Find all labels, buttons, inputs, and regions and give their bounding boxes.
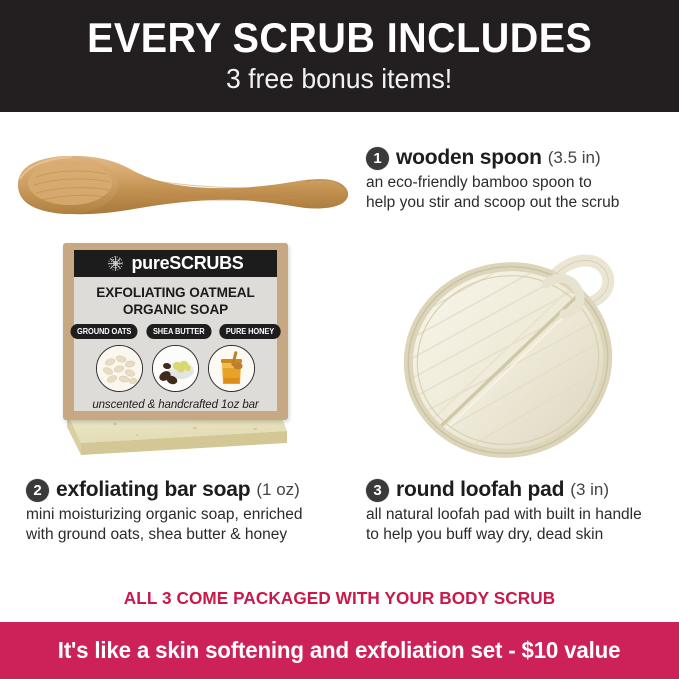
- item-2-desc-line-1: mini moisturizing organic soap, enriched: [26, 505, 336, 525]
- pure-honey-photo: [208, 345, 255, 392]
- soap-headline-line-1: EXFOLIATING OATMEAL: [78, 285, 273, 302]
- badge-ground-oats: GROUND OATS: [70, 324, 137, 339]
- header-subtitle: 3 free bonus items!: [226, 63, 452, 95]
- ground-oats-photo: [96, 345, 143, 392]
- soap-package-box: pureSCRUBS EXFOLIATING OATMEAL ORGANIC S…: [63, 243, 288, 420]
- item-2-number-badge: 2: [26, 479, 49, 502]
- item-2-quantity: (1 oz): [256, 480, 299, 500]
- header-banner: EVERY SCRUB INCLUDES 3 free bonus items!: [0, 0, 679, 112]
- soap-footer-text: unscented & handcrafted 1oz bar: [74, 392, 277, 411]
- loofah-pad-image: [396, 238, 636, 466]
- item-3-quantity: (3 in): [570, 480, 609, 500]
- value-banner-text: It's like a skin softening and exfoliati…: [58, 637, 621, 664]
- item-2-title: exfoliating bar soap: [56, 478, 250, 502]
- bar-soap-image: pureSCRUBS EXFOLIATING OATMEAL ORGANIC S…: [55, 243, 295, 458]
- packaging-note: ALL 3 COME PACKAGED WITH YOUR BODY SCRUB: [7, 588, 672, 609]
- item-1-heading: 1 wooden spoon (3.5 in): [366, 146, 666, 170]
- item-3-heading: 3 round loofah pad (3 in): [366, 478, 666, 502]
- item-3-text-block: 3 round loofah pad (3 in) all natural lo…: [366, 478, 666, 546]
- header-title: EVERY SCRUB INCLUDES: [87, 17, 592, 60]
- item-1-title: wooden spoon: [396, 146, 542, 170]
- soap-label: pureSCRUBS EXFOLIATING OATMEAL ORGANIC S…: [74, 250, 277, 411]
- item-3-number-badge: 3: [366, 479, 389, 502]
- item-2-text-block: 2 exfoliating bar soap (1 oz) mini moist…: [26, 478, 336, 546]
- value-banner: It's like a skin softening and exfoliati…: [0, 622, 679, 679]
- item-3-desc-line-1: all natural loofah pad with built in han…: [366, 505, 666, 525]
- item-1-number-badge: 1: [366, 147, 389, 170]
- item-1-desc-line-1: an eco-friendly bamboo spoon to: [366, 173, 666, 193]
- infographic-page: EVERY SCRUB INCLUDES 3 free bonus items!: [0, 0, 679, 679]
- wooden-spoon-image: [6, 143, 356, 223]
- soap-headline: EXFOLIATING OATMEAL ORGANIC SOAP: [74, 277, 277, 324]
- item-1-quantity: (3.5 in): [548, 148, 601, 168]
- soap-ingredient-badges: GROUND OATS SHEA BUTTER PURE HONEY: [74, 324, 277, 339]
- shea-butter-photo: [152, 345, 199, 392]
- badge-shea-butter: SHEA BUTTER: [146, 324, 211, 339]
- item-2-heading: 2 exfoliating bar soap (1 oz): [26, 478, 336, 502]
- soap-brand-bar: pureSCRUBS: [74, 250, 277, 277]
- soap-headline-line-2: ORGANIC SOAP: [78, 302, 273, 319]
- item-1-desc-line-2: help you stir and scoop out the scrub: [366, 193, 666, 213]
- item-3-title: round loofah pad: [396, 478, 564, 502]
- badge-pure-honey: PURE HONEY: [220, 324, 281, 339]
- item-3-desc-line-2: to help you buff way dry, dead skin: [366, 525, 666, 545]
- item-2-desc-line-2: with ground oats, shea butter & honey: [26, 525, 336, 545]
- soap-brand-name: pureSCRUBS: [131, 253, 243, 274]
- soap-ingredient-photos: [74, 339, 277, 392]
- mandala-ornament-icon: [107, 255, 124, 272]
- item-1-text-block: 1 wooden spoon (3.5 in) an eco-friendly …: [366, 146, 666, 214]
